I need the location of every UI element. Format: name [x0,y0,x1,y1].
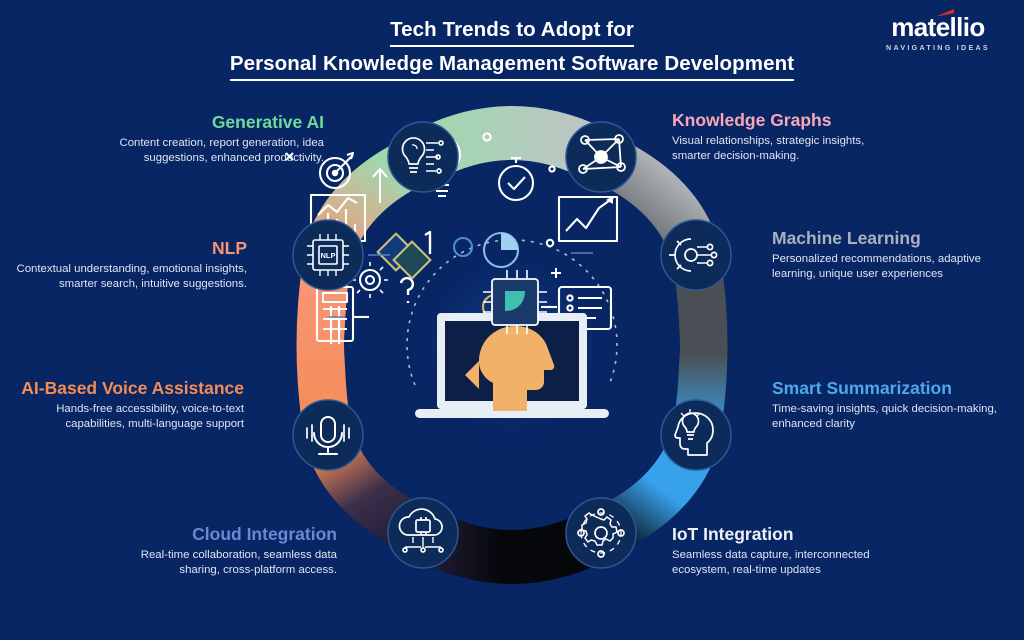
trend-title: Cloud Integration [105,524,337,545]
node-knowledge-graphs[interactable] [566,122,636,192]
logo-text: matellio [891,12,984,42]
chip-icon [483,270,547,334]
dot-icon [549,166,554,171]
matellio-logo: matellio NAVIGATING IDEAS [868,14,1008,52]
node-ai-based-voice-assistance[interactable] [293,400,363,470]
logo-tagline: NAVIGATING IDEAS [868,44,1008,52]
trend-block-machine-learning: Machine Learning Personalized recommenda… [772,228,1004,283]
nlp-chip-icon: NLP [307,234,349,276]
node-iot-integration[interactable] [566,498,636,568]
trend-title: Knowledge Graphs [672,110,904,131]
trend-block-nlp: NLP Contextual understanding, emotional … [15,238,247,293]
node-machine-learning[interactable] [661,220,731,290]
trend-block-ai-based-voice-assistance: AI-Based Voice Assistance Hands-free acc… [12,378,244,433]
trend-block-knowledge-graphs: Knowledge Graphs Visual relationships, s… [672,110,904,165]
trend-title: Generative AI [92,112,324,133]
trend-ring-diagram: NLP [255,95,769,595]
trend-title: IoT Integration [672,524,904,545]
node-generative-ai[interactable] [388,122,458,192]
trend-desc: Content creation, report generation, ide… [92,136,324,167]
node-smart-summarization[interactable] [661,400,731,470]
trend-title: NLP [15,238,247,259]
trend-block-smart-summarization: Smart Summarization Time-saving insights… [772,378,1004,433]
trend-desc: Personalized recommendations, adaptive l… [772,252,1004,283]
trend-block-iot-integration: IoT Integration Seamless data capture, i… [672,524,904,579]
node-cloud-integration[interactable] [388,498,458,568]
title-line-1: Tech Trends to Adopt for [390,18,634,47]
trend-block-cloud-integration: Cloud Integration Real-time collaboratio… [105,524,337,579]
trend-title: Smart Summarization [772,378,1004,399]
svg-text:NLP: NLP [321,251,336,260]
title-line-2: Personal Knowledge Management Software D… [230,52,794,81]
trend-desc: Contextual understanding, emotional insi… [15,262,247,293]
trend-block-generative-ai: Generative AI Content creation, report g… [92,112,324,167]
trend-desc: Seamless data capture, interconnected ec… [672,548,904,579]
trend-desc: Visual relationships, strategic insights… [672,134,904,165]
logo-wordmark: matellio [891,14,984,40]
trend-desc: Real-time collaboration, seamless data s… [105,548,337,579]
trend-title: AI-Based Voice Assistance [12,378,244,399]
trend-desc: Hands-free accessibility, voice-to-text … [12,402,244,433]
infographic-canvas: Tech Trends to Adopt for Personal Knowle… [0,0,1024,640]
trend-desc: Time-saving insights, quick decision-mak… [772,402,1004,433]
node-nlp[interactable]: NLP [293,220,363,290]
trend-title: Machine Learning [772,228,1004,249]
